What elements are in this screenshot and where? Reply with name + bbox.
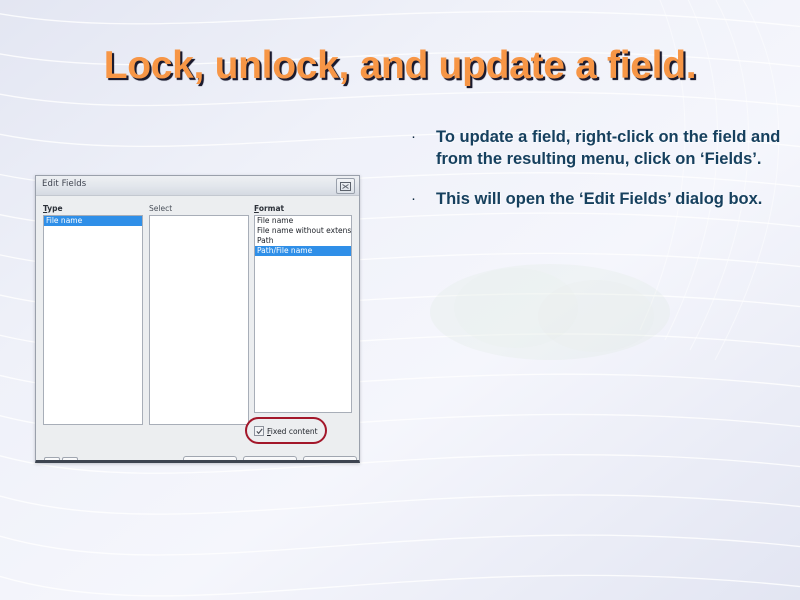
checkmark-icon (256, 428, 263, 435)
list-item[interactable]: File name (255, 216, 351, 226)
format-label-rest: ormat (259, 204, 284, 213)
dialog-button-row: OK Cancel Help (183, 456, 357, 463)
bullet-item: · To update a field, right-click on the … (406, 126, 792, 170)
cancel-button[interactable]: Cancel (243, 456, 297, 463)
triangle-left-icon[interactable] (44, 457, 60, 463)
bullet-marker: · (406, 188, 436, 210)
watermark-shape (420, 250, 680, 380)
bullet-text: This will open the ‘Edit Fields’ dialog … (436, 188, 792, 210)
triangle-right-icon[interactable] (62, 457, 78, 463)
list-item[interactable]: File name without extension (255, 226, 351, 236)
format-column-label: Format (254, 204, 284, 213)
help-button[interactable]: Help (303, 456, 357, 463)
ok-button[interactable]: OK (183, 456, 237, 463)
triangle-left-glyph (49, 461, 55, 463)
list-item[interactable]: File name (44, 216, 142, 226)
edit-fields-dialog: Edit Fields Type File name Select Forma (35, 175, 360, 463)
slide-title: Lock, unlock, and update a field. (0, 44, 800, 88)
dialog-title-bar: Edit Fields (36, 176, 359, 196)
select-listbox[interactable] (149, 215, 249, 425)
bullet-item: · This will open the ‘Edit Fields’ dialo… (406, 188, 792, 210)
fixed-content-checkbox-row[interactable]: Fixed content (254, 426, 318, 436)
type-listbox[interactable]: File name (43, 215, 143, 425)
fixed-content-rest: ixed content (271, 427, 318, 436)
type-label-rest: ype (47, 204, 62, 213)
dialog-body: Type File name Select Format File name F… (36, 196, 359, 463)
triangle-right-glyph (67, 461, 73, 463)
bullet-list: · To update a field, right-click on the … (406, 126, 792, 228)
slide-canvas: Lock, unlock, and update a field. · To u… (0, 0, 800, 600)
close-glyph (340, 182, 351, 191)
format-listbox[interactable]: File name File name without extension Pa… (254, 215, 352, 413)
list-item[interactable]: Path (255, 236, 351, 246)
checkbox-icon[interactable] (254, 426, 264, 436)
fixed-content-label: Fixed content (267, 427, 318, 436)
navigation-arrows (44, 457, 78, 463)
close-icon[interactable] (336, 178, 355, 194)
bullet-text: To update a field, right-click on the fi… (436, 126, 792, 170)
select-column-label: Select (149, 204, 172, 213)
bullet-marker: · (406, 126, 436, 148)
help-accel: H (321, 460, 327, 463)
help-rest: elp (327, 460, 338, 463)
list-item[interactable]: Path/File name (255, 246, 351, 256)
type-column-label: Type (43, 204, 63, 213)
dialog-title: Edit Fields (42, 179, 86, 189)
